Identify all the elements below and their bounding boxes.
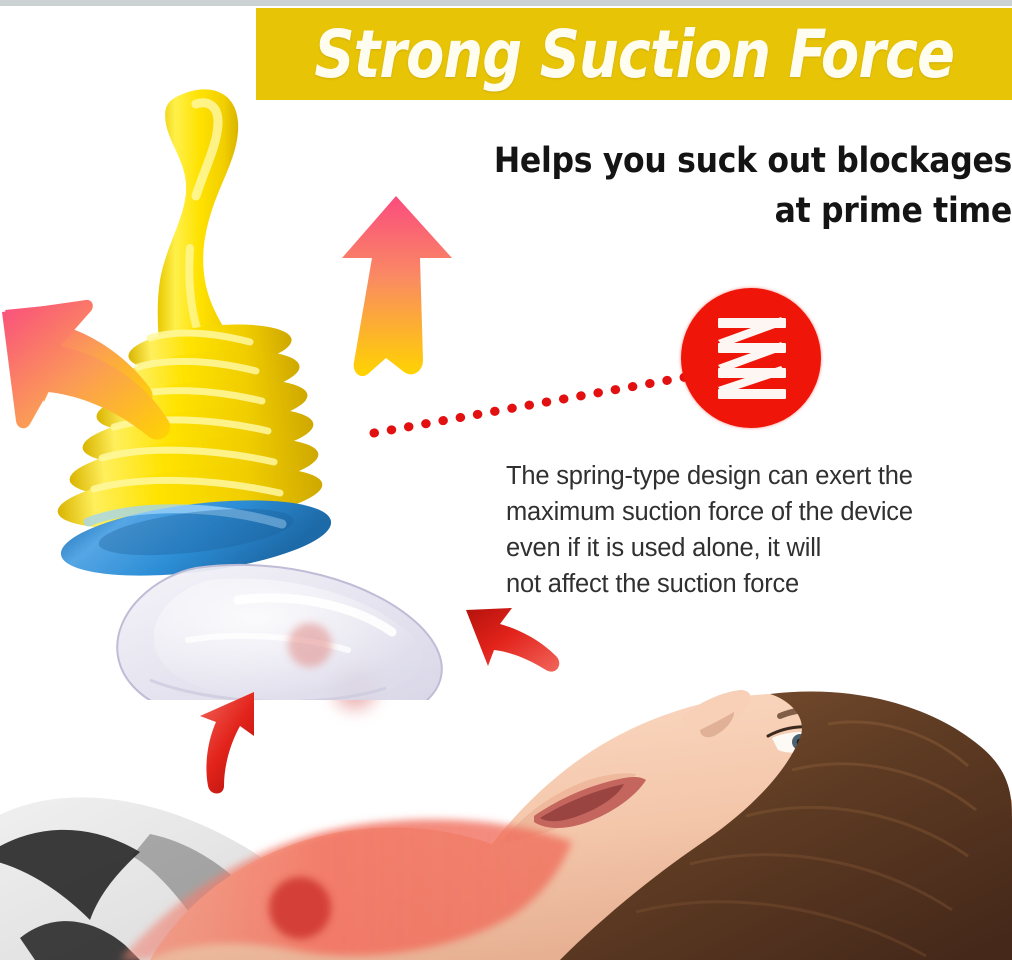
- device-clear-mask: [117, 565, 442, 700]
- subtitle-line-1: Helps you suck out blockages: [400, 136, 1012, 186]
- feature-description-line-1: The spring-type design can exert the: [506, 458, 1012, 494]
- feature-description-line-3: even if it is used alone, it will: [506, 530, 1012, 566]
- blockage-dot-large: [269, 877, 331, 939]
- top-edge-strip: [0, 0, 1012, 6]
- spring-coil-icon: [718, 317, 786, 399]
- title-banner: Strong Suction Force: [256, 8, 1012, 100]
- feature-description-line-2: maximum suction force of the device: [506, 494, 1012, 530]
- feature-description: The spring-type design can exert the max…: [506, 458, 1012, 602]
- subtitle-block: Helps you suck out blockages at prime ti…: [400, 136, 1012, 236]
- infographic-page: Strong Suction Force Helps you suck out …: [0, 0, 1012, 960]
- device-handle: [158, 89, 238, 356]
- subtitle-line-2: at prime time: [400, 186, 1012, 236]
- feature-description-line-4: not affect the suction force: [506, 566, 1012, 602]
- spring-feature-badge: [681, 288, 821, 428]
- page-title: Strong Suction Force: [314, 16, 954, 93]
